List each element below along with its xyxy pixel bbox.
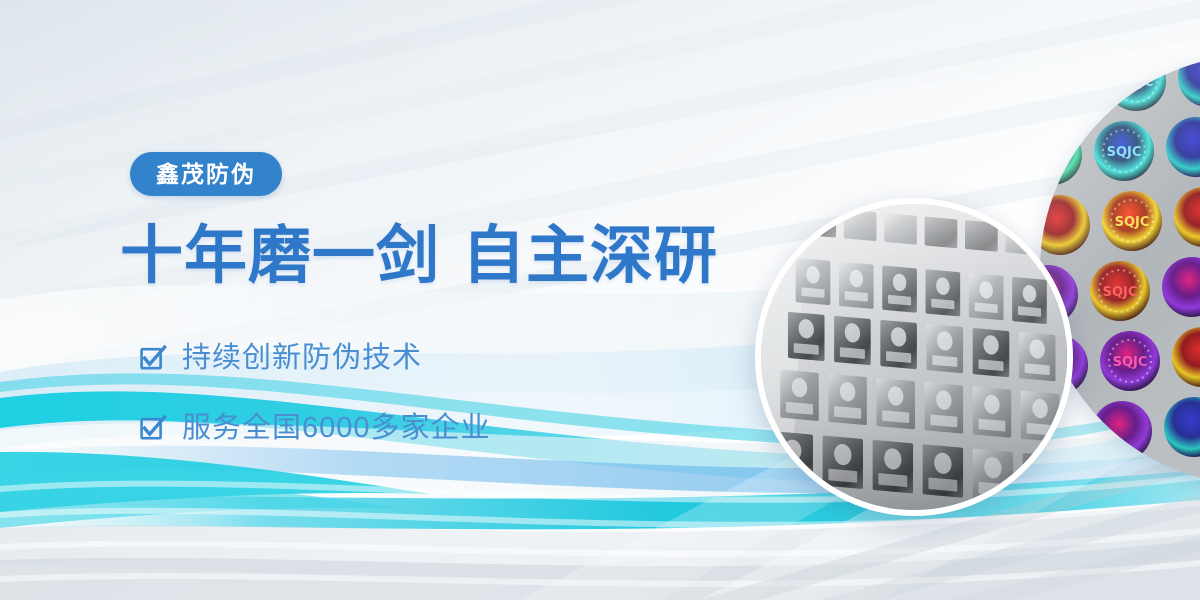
feature-list: 持续创新防伪技术 服务全国6000多家企业 bbox=[140, 332, 491, 472]
brand-badge: 鑫茂防伪 bbox=[130, 152, 282, 196]
checked-box-icon bbox=[140, 345, 166, 371]
silver-labels-photo bbox=[755, 198, 1073, 516]
list-item: 持续创新防伪技术 bbox=[140, 332, 491, 384]
headline-part-1: 十年磨一剑 bbox=[120, 221, 440, 291]
banner-content: 鑫茂防伪 十年磨一剑自主深研 持续创新防伪技术 bbox=[0, 0, 760, 600]
silver-labels-image bbox=[761, 204, 1067, 510]
list-item: 服务全国6000多家企业 bbox=[140, 402, 491, 454]
headline-part-2: 自主深研 bbox=[462, 221, 718, 291]
brand-badge-label: 鑫茂防伪 bbox=[156, 163, 256, 186]
checked-box-icon bbox=[140, 415, 166, 441]
list-item-label: 持续创新防伪技术 bbox=[182, 344, 422, 373]
page-title: 十年磨一剑自主深研 bbox=[120, 222, 718, 290]
promo-banner: SQJC SQJC SQJC SQJC SQJC SQJC SQJC SQJC … bbox=[0, 0, 1200, 600]
list-item-label: 服务全国6000多家企业 bbox=[182, 414, 491, 443]
